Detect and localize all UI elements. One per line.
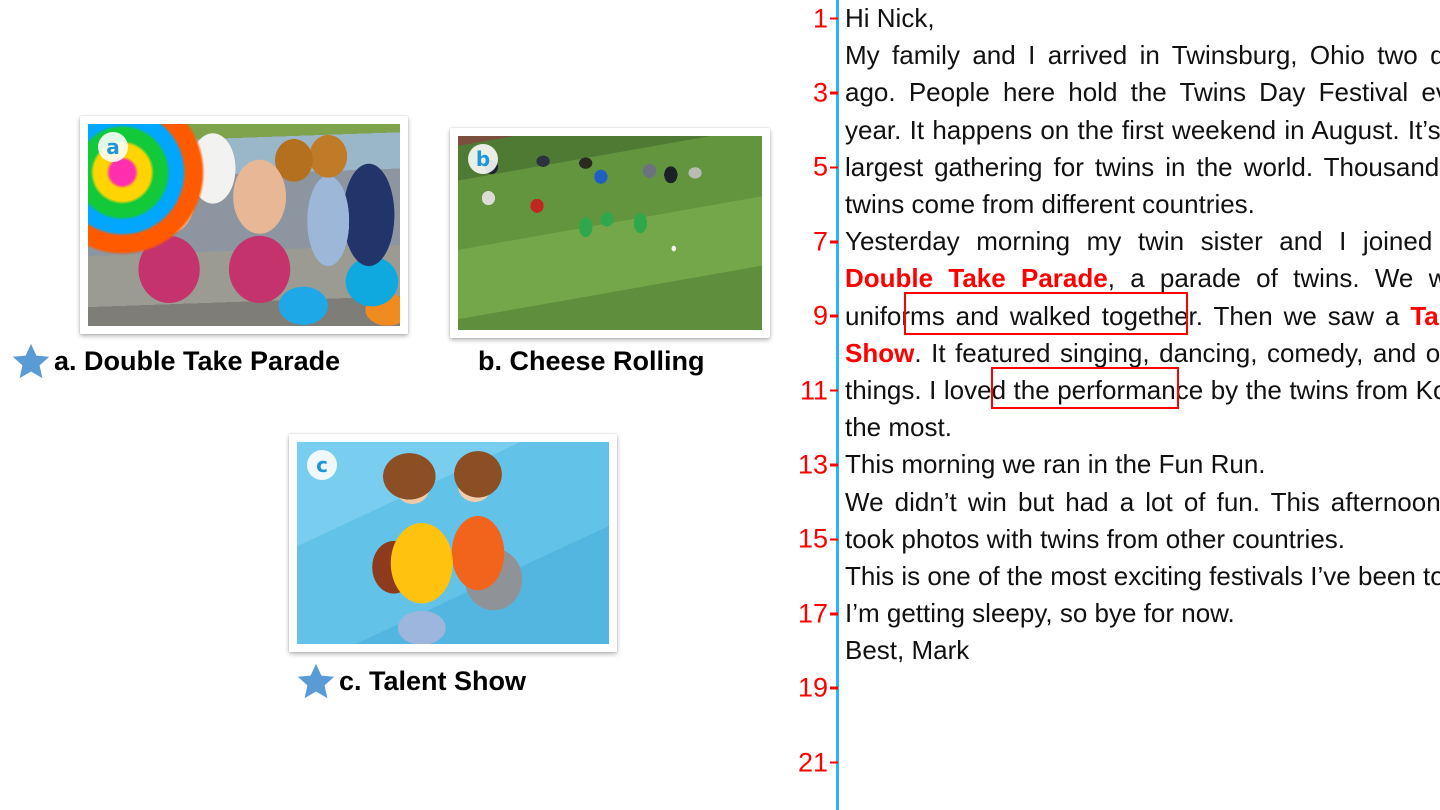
line-number-tick bbox=[830, 761, 838, 764]
photo-card-c[interactable]: c bbox=[289, 434, 617, 652]
line-number-value: 17 bbox=[798, 598, 828, 629]
photo-frame-a: a bbox=[88, 124, 400, 326]
caption-cheese-rolling: b. Cheese Rolling bbox=[478, 346, 705, 377]
line-number-tick bbox=[830, 389, 838, 392]
caption-talent-show: c. Talent Show bbox=[295, 660, 526, 702]
star-icon bbox=[295, 660, 337, 702]
line-number-13: 13 bbox=[798, 450, 838, 481]
line-number-value: 15 bbox=[798, 524, 828, 555]
line-number-tick bbox=[830, 687, 838, 690]
line-number-tick bbox=[830, 538, 838, 541]
line-number-value: 21 bbox=[798, 747, 828, 778]
line-number-value: 19 bbox=[798, 673, 828, 704]
line-number-1: 1 bbox=[813, 3, 838, 34]
line-number-gutter: 13579111315171921 bbox=[790, 0, 838, 810]
pictures-panel: a b c a. Double Take Parade b. C bbox=[0, 0, 790, 810]
para2-pre: Yesterday morning my twin sister and I j… bbox=[845, 226, 1440, 256]
photo-badge-c: c bbox=[307, 450, 337, 480]
line-number-value: 11 bbox=[800, 375, 828, 406]
line-number-tick bbox=[830, 613, 838, 616]
line-number-tick bbox=[830, 92, 838, 95]
letter-paragraph-6: I’m getting sleepy, so bye for now. bbox=[845, 595, 1440, 632]
caption-double-take-parade: a. Double Take Parade bbox=[10, 340, 340, 382]
line-number-tick bbox=[830, 17, 838, 20]
letter-paragraph-2: Yesterday morning my twin sister and I j… bbox=[845, 223, 1440, 446]
line-number-17: 17 bbox=[798, 598, 838, 629]
keyword-double-take-parade: Double Take Parade bbox=[845, 263, 1108, 293]
line-number-value: 9 bbox=[813, 301, 828, 332]
photo-card-a[interactable]: a bbox=[80, 116, 408, 334]
photo-badge-b: b bbox=[468, 144, 498, 174]
line-number-value: 7 bbox=[813, 226, 828, 257]
line-number-5: 5 bbox=[813, 152, 838, 183]
line-number-15: 15 bbox=[798, 524, 838, 555]
letter-signoff: Best, Mark bbox=[845, 632, 1440, 669]
line-number-3: 3 bbox=[813, 78, 838, 109]
caption-a-label: a. Double Take Parade bbox=[54, 346, 340, 377]
line-number-tick bbox=[830, 241, 838, 244]
line-number-tick bbox=[830, 315, 838, 318]
photo-talent-show bbox=[297, 442, 609, 644]
star-icon bbox=[10, 340, 52, 382]
line-number-7: 7 bbox=[813, 226, 838, 257]
letter-paragraph-1: My family and I arrived in Twinsburg, Oh… bbox=[845, 37, 1440, 223]
letter-paragraph-5: This is one of the most exciting festiva… bbox=[845, 558, 1440, 595]
line-number-tick bbox=[830, 166, 838, 169]
caption-c-label: c. Talent Show bbox=[339, 666, 526, 697]
letter-paragraph-3: This morning we ran in the Fun Run. bbox=[845, 446, 1440, 483]
letter-paragraph-4: We didn’t win but had a lot of fun. This… bbox=[845, 484, 1440, 558]
para2-post: . It featured singing, dancing, comedy, … bbox=[845, 338, 1440, 442]
slide-root: a b c a. Double Take Parade b. C bbox=[0, 0, 1440, 810]
line-number-value: 1 bbox=[813, 3, 828, 34]
letter-panel: 13579111315171921 Hi Nick, My family and… bbox=[790, 0, 1440, 810]
caption-b-label: b. Cheese Rolling bbox=[478, 346, 705, 377]
line-number-value: 13 bbox=[798, 450, 828, 481]
photo-badge-a: a bbox=[98, 132, 128, 162]
photo-double-take-parade bbox=[88, 124, 400, 326]
letter-text: Hi Nick, My family and I arrived in Twin… bbox=[845, 0, 1440, 670]
photo-cheese-rolling bbox=[458, 136, 762, 330]
line-number-19: 19 bbox=[798, 673, 838, 704]
line-number-value: 5 bbox=[813, 152, 828, 183]
photo-card-b[interactable]: b bbox=[450, 128, 770, 338]
line-number-tick bbox=[830, 464, 838, 467]
line-number-21: 21 bbox=[798, 747, 838, 778]
photo-frame-b: b bbox=[458, 136, 762, 330]
photo-frame-c: c bbox=[297, 442, 609, 644]
line-number-11: 11 bbox=[800, 375, 838, 406]
letter-greeting: Hi Nick, bbox=[845, 0, 1440, 37]
line-number-9: 9 bbox=[813, 301, 838, 332]
line-number-value: 3 bbox=[813, 78, 828, 109]
